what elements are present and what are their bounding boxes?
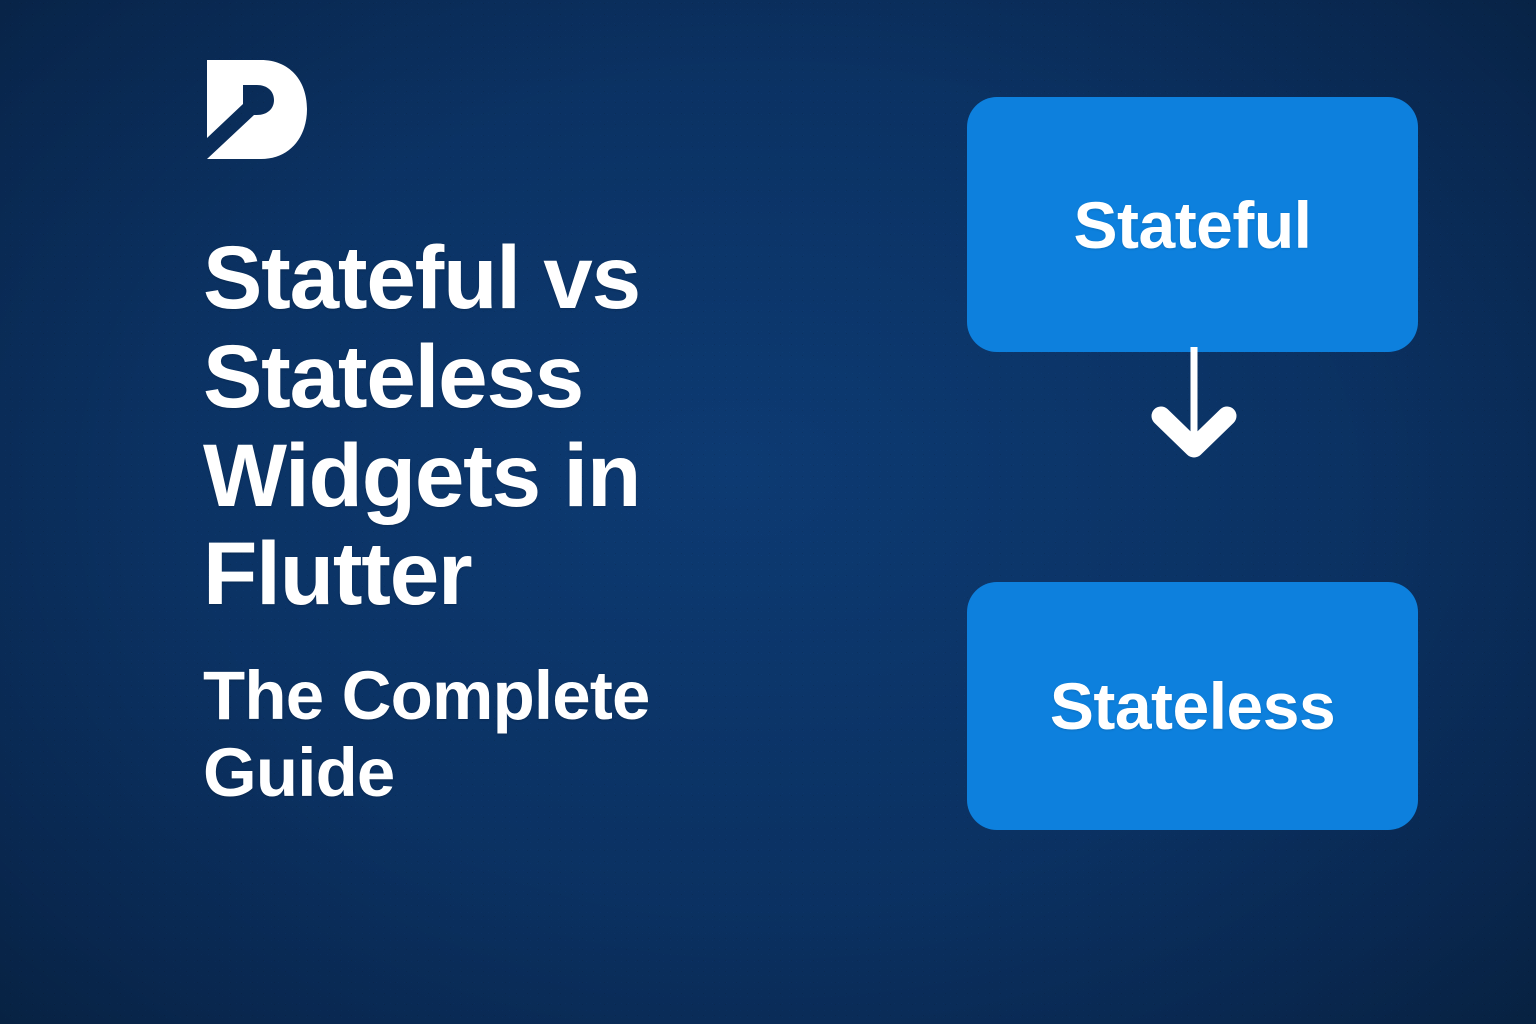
headline-line-2: Stateless: [203, 326, 583, 426]
headline-line-1: Stateful vs: [203, 227, 640, 327]
widget-flow-diagram: Stateful Stateless: [967, 97, 1418, 830]
diagram-node-stateful: Stateful: [967, 97, 1418, 352]
subhead-line-1: The Complete: [203, 657, 650, 734]
diagram-node-stateless: Stateless: [967, 582, 1418, 830]
poster-canvas: Stateful vs Stateless Widgets in Flutter…: [0, 0, 1536, 1024]
page-subtitle: The Complete Guide: [203, 657, 823, 812]
headline-line-4: Flutter: [203, 523, 471, 623]
diagram-node-stateful-label: Stateful: [1073, 192, 1311, 258]
arrow-down-icon: [1139, 347, 1249, 587]
title-block: Stateful vs Stateless Widgets in Flutter…: [203, 58, 863, 812]
page-title: Stateful vs Stateless Widgets in Flutter: [203, 228, 763, 623]
subhead-line-2: Guide: [203, 734, 395, 811]
diagram-node-stateless-label: Stateless: [1050, 673, 1335, 739]
letter-d-logo: [203, 58, 309, 162]
headline-line-3: Widgets in: [203, 425, 640, 525]
